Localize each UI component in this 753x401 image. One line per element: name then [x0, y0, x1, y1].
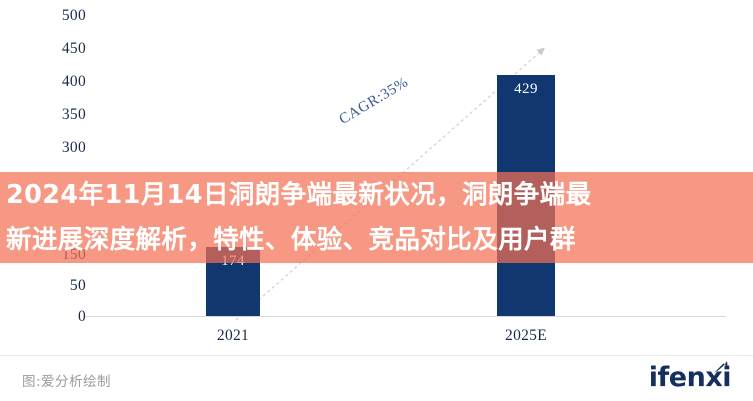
y-axis-tick: 0: [26, 309, 86, 325]
x-axis-tick-2025e: 2025E: [466, 327, 586, 345]
y-axis-tick: 350: [26, 107, 86, 123]
y-axis-tick: 450: [26, 41, 86, 57]
x-axis-baseline: [86, 316, 726, 317]
overlay-headline-banner: 2024年11月14日洞朗争端最新状况，洞朗争端最 新进展深度解析，特性、体验、…: [0, 172, 753, 263]
y-axis-tick: 500: [26, 8, 86, 24]
chart-footer: 图:爱分析绘制 ifenxi: [0, 355, 753, 401]
banner-headline-line-2: 新进展深度解析，特性、体验、竞品对比及用户群: [6, 218, 753, 263]
y-axis-tick: 50: [26, 278, 86, 294]
source-caption: 图:爱分析绘制: [22, 370, 111, 390]
chart-screenshot: 500 450 400 350 300 150 50 0 CAGR:35% 17…: [0, 0, 753, 400]
y-axis-tick: 400: [26, 74, 86, 90]
x-axis-tick-2021: 2021: [173, 327, 293, 345]
y-axis-tick: 300: [26, 140, 86, 156]
cagr-label: CAGR:35%: [337, 74, 412, 128]
banner-headline-line-1: 2024年11月14日洞朗争端最新状况，洞朗争端最: [6, 173, 753, 218]
bar-value-2025e: 429: [497, 81, 555, 98]
ifenxi-logo: ifenxi: [649, 364, 731, 391]
swoosh-icon: [712, 360, 730, 376]
